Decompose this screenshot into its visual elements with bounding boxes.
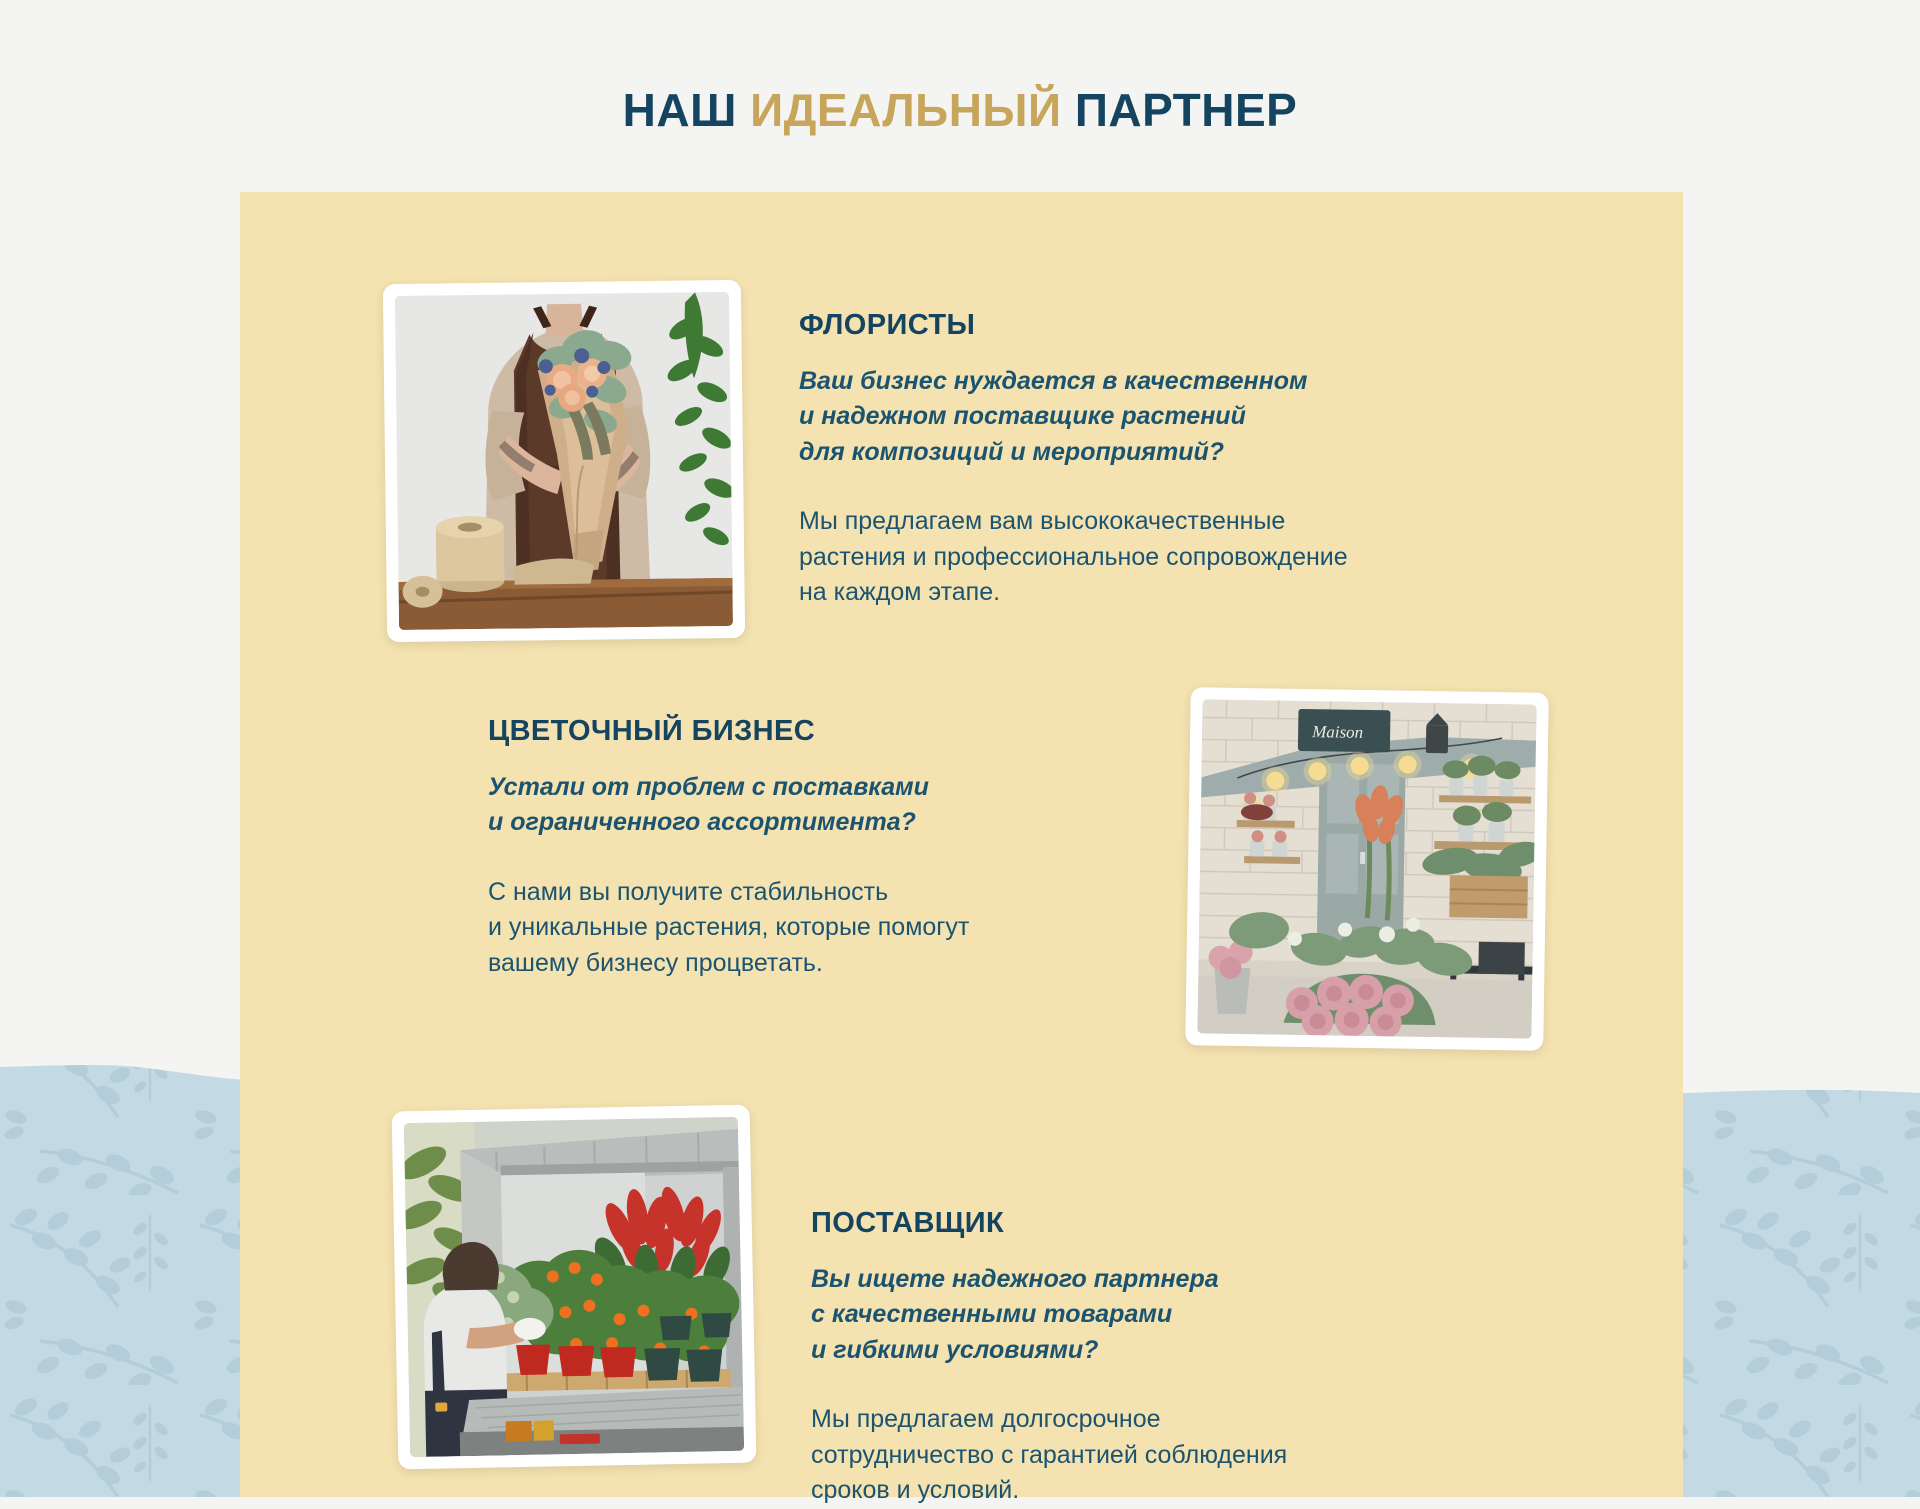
florists-lead-line-1: Ваш бизнес нуждается в качественном	[799, 364, 1559, 400]
flower-business-body-line-1: С нами вы получите стабильность	[488, 875, 1148, 911]
page-title-word-3: ПАРТНЕР	[1075, 84, 1298, 136]
flower-business-body-line-2: и уникальные растения, которые помогут	[488, 910, 1148, 946]
florists-heading: ФЛОРИСТЫ	[799, 310, 1559, 342]
flower-business-body-line-3: вашему бизнесу процветать.	[488, 946, 1148, 982]
florists-text-block: ФЛОРИСТЫ Ваш бизнес нуждается в качестве…	[799, 282, 1559, 611]
florists-body-line-2: растения и профессиональное сопровождени…	[799, 540, 1559, 576]
supplier-lead-line-3: и гибкими условиями?	[811, 1333, 1531, 1369]
florist-photo-frame	[383, 280, 745, 642]
supplier-body-line-3: сроков и условий.	[811, 1473, 1531, 1509]
flower-business-lead: Устали от проблем с поставками и огранич…	[488, 770, 1148, 841]
florists-lead-line-2: и надежном поставщике растений	[799, 399, 1559, 435]
flower-business-lead-line-2: и ограниченного ассортимента?	[488, 805, 1148, 841]
florists-body: Мы предлагаем вам высококачественные рас…	[799, 504, 1559, 611]
section-flower-business: ЦВЕТОЧНЫЙ БИЗНЕС Устали от проблем с пос…	[488, 690, 1546, 1048]
flower-business-text-block: ЦВЕТОЧНЫЙ БИЗНЕС Устали от проблем с пос…	[488, 690, 1148, 981]
page-title-word-1: НАШ	[623, 84, 737, 136]
section-florists: ФЛОРИСТЫ Ваш бизнес нуждается в качестве…	[385, 282, 1559, 640]
flower-business-heading: ЦВЕТОЧНЫЙ БИЗНЕС	[488, 716, 1148, 748]
section-supplier: ПОСТАВЩИК Вы ищете надежного партнера с …	[395, 1108, 1531, 1509]
supplier-heading: ПОСТАВЩИК	[811, 1208, 1531, 1240]
florists-body-line-3: на каждом этапе.	[799, 575, 1559, 611]
flower-shop-photo-frame: Maison	[1185, 687, 1549, 1051]
supplier-body-line-1: Мы предлагаем долгосрочное	[811, 1402, 1531, 1438]
supplier-body-line-2: сотрудничество с гарантией соблюдения	[811, 1438, 1531, 1474]
florists-lead-line-3: для композиций и мероприятий?	[799, 435, 1559, 471]
plant-delivery-truck-photo	[404, 1117, 744, 1457]
florists-lead: Ваш бизнес нуждается в качественном и на…	[799, 364, 1559, 471]
svg-text:Maison: Maison	[1311, 722, 1363, 742]
supplier-body: Мы предлагаем долгосрочное сотрудничеств…	[811, 1402, 1531, 1509]
page-title-word-2: ИДЕАЛЬНЫЙ	[750, 84, 1061, 136]
flower-shop-storefront-photo: Maison	[1197, 699, 1536, 1038]
supplier-lead-line-2: с качественными товарами	[811, 1297, 1531, 1333]
flower-business-lead-line-1: Устали от проблем с поставками	[488, 770, 1148, 806]
page-title: НАШ ИДЕАЛЬНЫЙ ПАРТНЕР	[0, 87, 1920, 133]
supplier-lead-line-1: Вы ищете надежного партнера	[811, 1262, 1531, 1298]
flower-business-body: С нами вы получите стабильность и уникал…	[488, 875, 1148, 982]
florists-body-line-1: Мы предлагаем вам высококачественные	[799, 504, 1559, 540]
florist-holding-bouquet-photo	[395, 292, 733, 630]
supplier-text-block: ПОСТАВЩИК Вы ищете надежного партнера с …	[811, 1108, 1531, 1509]
supplier-photo-frame	[392, 1105, 757, 1470]
supplier-lead: Вы ищете надежного партнера с качественн…	[811, 1262, 1531, 1369]
